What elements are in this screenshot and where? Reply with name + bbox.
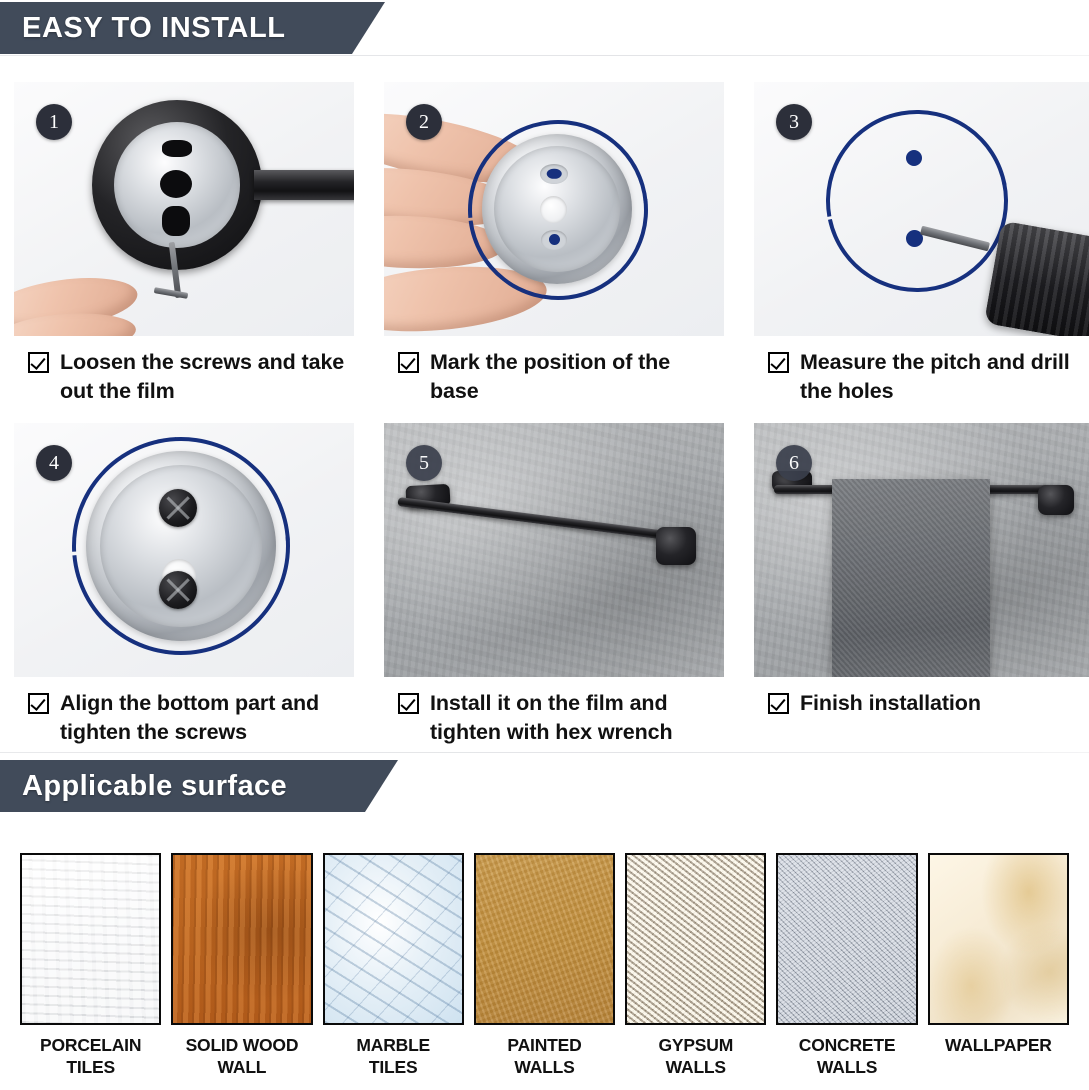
step-photo-3: 3 xyxy=(754,82,1089,336)
surface-label-painted-walls: PAINTED WALLS xyxy=(507,1034,581,1079)
slot-bottom-icon xyxy=(162,206,190,236)
surface-label-wallpaper: WALLPAPER xyxy=(945,1034,1052,1056)
surface-item-solid-wood-wall: SOLID WOOD WALL xyxy=(171,853,312,1079)
step-number-badge-2: 2 xyxy=(406,104,442,140)
step-photo-2: 2 xyxy=(384,82,724,336)
step-caption-5: Install it on the film and tighten with … xyxy=(384,689,724,746)
installation-steps-grid: 1 Loosen the screws and take out the fil… xyxy=(14,82,1075,746)
step-caption-text-6: Finish installation xyxy=(800,689,981,718)
step-caption-text-4: Align the bottom part and tighten the sc… xyxy=(60,689,354,746)
surface-swatch-marble-tiles xyxy=(323,853,464,1025)
step-card-4: 4 Align the bottom part and tighten the … xyxy=(14,423,354,746)
step-photo-1: 1 xyxy=(14,82,354,336)
step-card-6: 6 Finish installation xyxy=(754,423,1089,746)
checkbox-checked-icon xyxy=(28,352,49,373)
surface-label-gypsum-walls: GYPSUM WALLS xyxy=(658,1034,733,1079)
step-number-badge-3: 3 xyxy=(776,104,812,140)
step-caption-1: Loosen the screws and take out the film xyxy=(14,348,354,405)
banner-applicable-surface-label: Applicable surface xyxy=(22,770,287,803)
surface-item-marble-tiles: MARBLE TILES xyxy=(323,853,464,1079)
bracket-right-icon xyxy=(1038,485,1074,515)
banner-easy-to-install: EASY TO INSTALL xyxy=(0,2,385,54)
step-caption-text-2: Mark the position of the base xyxy=(430,348,724,405)
drill-mark-top-icon xyxy=(906,150,922,166)
surface-swatch-painted-walls xyxy=(474,853,615,1025)
surface-item-painted-walls: PAINTED WALLS xyxy=(474,853,615,1079)
banner-applicable-surface: Applicable surface xyxy=(0,760,398,812)
slot-top-icon xyxy=(162,140,192,157)
step-photo-4: 4 xyxy=(14,423,354,677)
slot-middle-icon xyxy=(160,170,192,198)
checkbox-checked-icon xyxy=(398,693,419,714)
surface-item-gypsum-walls: GYPSUM WALLS xyxy=(625,853,766,1079)
banner-divider-bottom xyxy=(0,752,1089,753)
towel-bar-rod-icon xyxy=(397,497,688,543)
checkbox-checked-icon xyxy=(28,693,49,714)
step-caption-6: Finish installation xyxy=(754,689,1089,718)
surface-label-concrete-walls: CONCRETE WALLS xyxy=(799,1034,896,1079)
banner-easy-to-install-label: EASY TO INSTALL xyxy=(22,12,286,45)
step-caption-text-3: Measure the pitch and drill the holes xyxy=(800,348,1089,405)
checkbox-checked-icon xyxy=(768,693,789,714)
step-caption-text-1: Loosen the screws and take out the film xyxy=(60,348,354,405)
step-number-badge-1: 1 xyxy=(36,104,72,140)
surface-label-marble-tiles: MARBLE TILES xyxy=(356,1034,430,1079)
step-number-badge-6: 6 xyxy=(776,445,812,481)
step-photo-6: 6 xyxy=(754,423,1089,677)
towel-bar-rod-icon xyxy=(254,170,354,200)
step-caption-2: Mark the position of the base xyxy=(384,348,724,405)
checkbox-checked-icon xyxy=(768,352,789,373)
surface-swatch-concrete-walls xyxy=(776,853,917,1025)
surface-item-porcelain-tiles: PORCELAIN TILES xyxy=(20,853,161,1079)
blue-arc-bottom-icon xyxy=(27,423,334,677)
surface-swatch-gypsum-walls xyxy=(625,853,766,1025)
step-card-1: 1 Loosen the screws and take out the fil… xyxy=(14,82,354,405)
bracket-right-icon xyxy=(656,527,696,565)
step-caption-4: Align the bottom part and tighten the sc… xyxy=(14,689,354,746)
surface-item-wallpaper: WALLPAPER xyxy=(928,853,1069,1079)
surface-label-porcelain-tiles: PORCELAIN TILES xyxy=(40,1034,141,1079)
step-number-badge-5: 5 xyxy=(406,445,442,481)
drill-chuck-icon xyxy=(984,221,1089,336)
step-number-badge-4: 4 xyxy=(36,445,72,481)
step-card-3: 3 Measure the pitch and drill the holes xyxy=(754,82,1089,405)
step-caption-3: Measure the pitch and drill the holes xyxy=(754,348,1089,405)
applicable-surfaces-grid: PORCELAIN TILES SOLID WOOD WALL MARBLE T… xyxy=(20,853,1069,1079)
surface-swatch-porcelain-tiles xyxy=(20,853,161,1025)
banner-divider-top xyxy=(0,55,1089,56)
step-caption-text-5: Install it on the film and tighten with … xyxy=(430,689,724,746)
step-card-2: 2 Mark the position of the base xyxy=(384,82,724,405)
checkbox-checked-icon xyxy=(398,352,419,373)
step-photo-5: 5 xyxy=(384,423,724,677)
surface-swatch-solid-wood-wall xyxy=(171,853,312,1025)
hanging-towel-icon xyxy=(832,479,990,677)
step-card-5: 5 Install it on the film and tighten wit… xyxy=(384,423,724,746)
surface-swatch-wallpaper xyxy=(928,853,1069,1025)
hex-wrench-arm-icon xyxy=(154,287,189,299)
surface-label-solid-wood-wall: SOLID WOOD WALL xyxy=(186,1034,299,1079)
surface-item-concrete-walls: CONCRETE WALLS xyxy=(776,853,917,1079)
